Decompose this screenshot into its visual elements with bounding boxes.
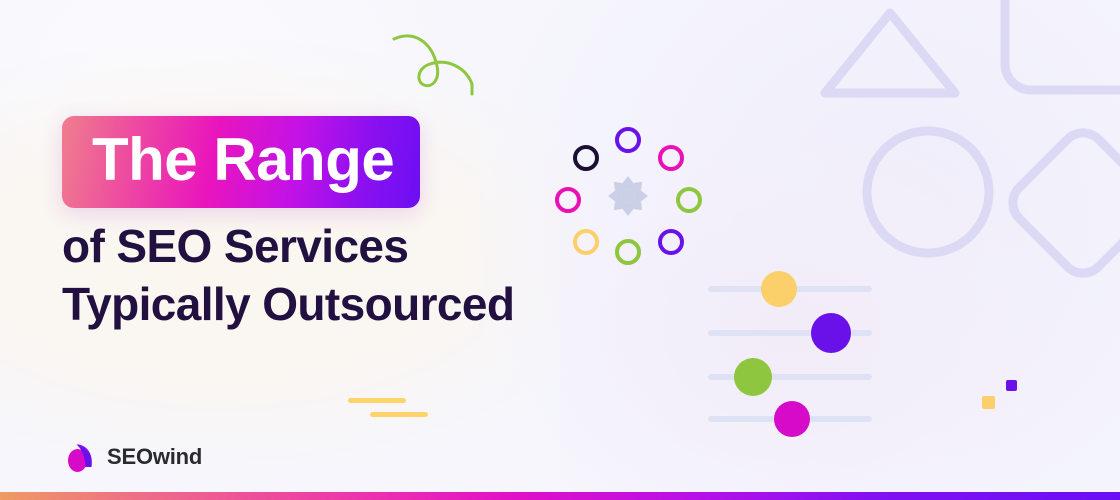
slider-knob[interactable] (774, 401, 810, 437)
decorative-outline-shapes (820, 0, 1120, 290)
subtitle-line-1: of SEO Services (62, 218, 702, 276)
dash-line-1 (348, 398, 406, 403)
dash-decoration (348, 398, 428, 417)
slider-row[interactable] (708, 416, 872, 422)
slider-row[interactable] (708, 374, 872, 380)
cluster-ring-n (615, 127, 641, 153)
squiggle-decoration (388, 22, 498, 107)
slider-knob[interactable] (734, 358, 772, 396)
slider-row[interactable] (708, 330, 872, 336)
seowind-logo-text: SEOwind (107, 444, 202, 470)
triangle-outline (825, 13, 955, 93)
headline-subtitle: of SEO Services Typically Outsourced (62, 218, 702, 334)
rounded-square-outline (1005, 0, 1120, 90)
cluster-ring-e (676, 187, 702, 213)
cluster-ring-w (555, 187, 581, 213)
slider-group (708, 286, 872, 422)
slider-track[interactable] (708, 374, 872, 380)
seowind-logo: SEOwind (63, 440, 202, 474)
cluster-ring-nw (573, 145, 599, 171)
slider-knob[interactable] (761, 271, 797, 307)
slider-row[interactable] (708, 286, 872, 292)
diamond-outline (1004, 124, 1120, 282)
subtitle-line-2: Typically Outsourced (62, 276, 702, 334)
headline-pill: The Range (62, 116, 420, 208)
headline-pill-text: The Range (92, 130, 394, 190)
circle-outline (867, 131, 989, 253)
dash-line-2 (370, 412, 428, 417)
seo-services-banner: The Range of SEO Services Typically Outs… (0, 0, 1120, 500)
bottom-gradient-bar (0, 492, 1120, 500)
seowind-logo-mark-icon (63, 440, 97, 474)
yellow-square-decoration (982, 396, 995, 409)
cluster-ring-ne (658, 145, 684, 171)
slider-knob[interactable] (811, 313, 851, 353)
purple-square-decoration (1006, 380, 1017, 391)
radial-arrows-icon (607, 175, 649, 217)
